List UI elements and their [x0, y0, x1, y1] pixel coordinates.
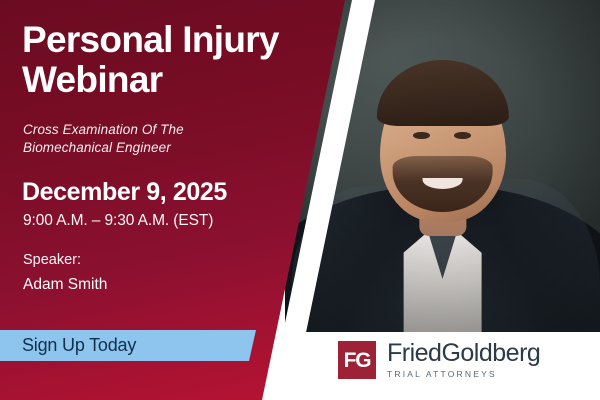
headline-line-1: Personal Injury [22, 19, 279, 60]
subtitle-line-1: Cross Examination Of The [23, 122, 184, 137]
logo-wordmark: FriedGoldberg TRIAL ATTORNEYS [387, 341, 540, 379]
firm-logo[interactable]: FG FriedGoldberg TRIAL ATTORNEYS [338, 341, 540, 379]
webinar-promo-banner: Personal Injury Webinar Cross Examinatio… [0, 0, 600, 400]
fg-monogram-icon: FG [338, 341, 376, 379]
headline-line-2: Webinar [22, 60, 322, 100]
event-date: December 9, 2025 [22, 178, 227, 207]
event-time: 9:00 A.M. – 9:30 A.M. (EST) [23, 212, 213, 230]
fg-monogram-letters: FG [338, 341, 376, 379]
page-title: Personal Injury Webinar [22, 20, 322, 99]
webinar-subtitle: Cross Examination Of The Biomechanical E… [23, 121, 263, 157]
subtitle-line-2: Biomechanical Engineer [23, 139, 263, 157]
sign-up-button-label[interactable]: Sign Up Today [22, 330, 136, 361]
firm-tagline: TRIAL ATTORNEYS [387, 369, 540, 379]
speaker-name: Adam Smith [23, 276, 107, 294]
speaker-label: Speaker: [23, 252, 81, 268]
firm-name: FriedGoldberg [387, 341, 540, 366]
